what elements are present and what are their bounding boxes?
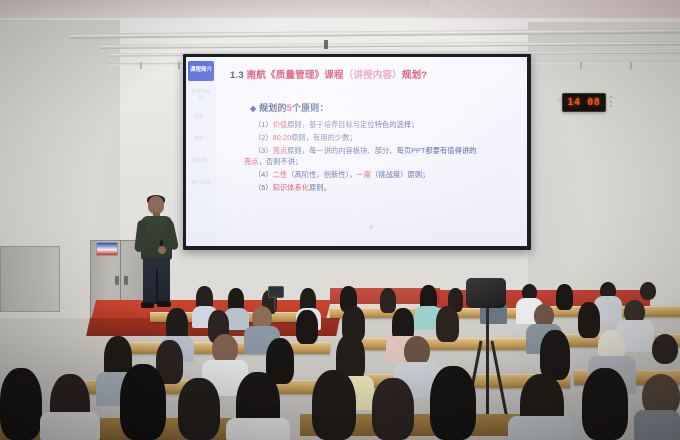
- slide-title-tail: 规划?: [402, 70, 427, 81]
- digital-wall-clock: 14 08: [562, 93, 606, 112]
- audience-person-front: [50, 374, 90, 440]
- slide-title: 1.3 南航《质量管理》课程（讲授内容）规划?: [230, 67, 427, 81]
- presenter-hand: [158, 246, 166, 254]
- slide-item-1-num: （1）: [254, 120, 273, 129]
- presenter-shoe-left: [141, 302, 154, 308]
- lecture-hall-photo: 14 08 课程简介 课程与目标 讲课一 讲课二 课程推广 课后总结 1.3 南…: [0, 0, 680, 440]
- audience-person-front: [40, 412, 100, 440]
- desk-row: [574, 370, 680, 385]
- slide-item-5: （5）知识体系化原则。: [254, 183, 331, 192]
- slide-item-1: （1）价值原则，基于培养目标与定位特色的选择；: [254, 120, 418, 129]
- audience-person: [212, 334, 238, 364]
- slide-tab-dim-2[interactable]: 讲课一: [189, 109, 213, 126]
- right-wall: [528, 22, 680, 302]
- presenter: [134, 196, 178, 314]
- slide-item-3: （3）亮点原则，每一讲的内容板块、部分、每页PPT都要有值得讲的: [254, 146, 476, 155]
- audience-person: [404, 336, 430, 366]
- slide-heading-prefix: 规划的: [259, 103, 287, 113]
- foreground-blur: [0, 330, 680, 440]
- slide-item-2-num: （2）: [254, 133, 273, 142]
- slide-item-4-highlight: 二性: [273, 170, 288, 179]
- slide-tab-dim-1[interactable]: 课程与目标: [189, 87, 213, 104]
- slide-item-2: （2）80:20原则，有用的少数；: [254, 133, 357, 142]
- slide-item-2-highlight: 80:20: [273, 133, 292, 142]
- audience-person: [266, 338, 294, 384]
- slide-tab-dim-3[interactable]: 讲课二: [189, 131, 213, 148]
- projection-screen[interactable]: 课程简介 课程与目标 讲课一 讲课二 课程推广 课后总结 1.3 南航《质量管理…: [186, 57, 527, 246]
- desk-row-front: [300, 414, 560, 436]
- clock-time-display: 14 08: [567, 97, 600, 108]
- desk-row: [130, 342, 330, 354]
- slide-item-5-num: （5）: [254, 183, 273, 192]
- audience-person: [202, 360, 248, 396]
- audience-person-front: [236, 372, 280, 440]
- slide-item-3-rest: 原则，每一讲的内容板块、部分、每页PPT都要有值得讲的: [287, 146, 476, 155]
- presenter-shoe-right: [157, 301, 171, 307]
- slide-item-3-wrap-rest: ，否则不讲；: [259, 157, 303, 166]
- audience-person-front: [582, 368, 628, 440]
- slide-title-main: 南航《质量管理》课程: [247, 70, 344, 81]
- audience-person: [616, 320, 654, 352]
- audience-person: [104, 336, 132, 382]
- slide-item-4-highlight-2: 一度: [357, 170, 372, 179]
- slide-item-5-highlight: 知识体系化: [273, 183, 309, 192]
- slide-item-3-num: （3）: [254, 146, 273, 155]
- pipe-hanger: [140, 62, 142, 69]
- slide-tab-dim-5[interactable]: 课后总结: [189, 175, 213, 192]
- cabinet-handle: [115, 276, 119, 285]
- desk-row: [340, 338, 550, 350]
- audience-person-front: [430, 366, 476, 440]
- audience-person-front: [120, 364, 166, 440]
- desk-row: [60, 380, 320, 394]
- audience-person-front: [508, 416, 574, 440]
- slide-item-2-rest: 原则，有用的少数；: [291, 133, 357, 142]
- slide-sidebar: 课程简介 课程与目标 讲课一 讲课二 课程推广 课后总结: [186, 57, 216, 246]
- audience-person: [156, 340, 183, 384]
- side-cabinet: [0, 246, 60, 312]
- stage-edge-right: [420, 290, 650, 316]
- slide-heading: ◆ 规划的5个原则：: [250, 101, 329, 114]
- slide-item-3-wrap: 亮点，否则不讲；: [244, 157, 302, 166]
- pipe-hanger: [178, 62, 180, 69]
- tripod-leg: [486, 300, 489, 430]
- audience-person: [326, 376, 374, 410]
- bullet-diamond-icon: ◆: [250, 104, 256, 113]
- audience-person: [526, 324, 562, 354]
- stage-platform-face: [86, 318, 340, 336]
- slide-item-4-rest: （高阶性、创新性），: [287, 170, 356, 179]
- pipe-clamp: [324, 40, 328, 49]
- slide-item-4-rest-2: （挑战度）原则；: [371, 170, 429, 179]
- presenter-leg-seam: [156, 270, 158, 304]
- slide-heading-suffix: 个原则：: [292, 103, 329, 113]
- audience-person-front: [520, 374, 564, 440]
- slide-tab-dim-4[interactable]: 课程推广: [189, 153, 213, 170]
- desk-row: [330, 374, 570, 388]
- audience-person-front: [0, 368, 42, 440]
- audience-person: [588, 356, 636, 394]
- slide-tab-active[interactable]: 课程简介: [188, 61, 214, 81]
- audience-person-cap: [598, 330, 625, 360]
- audience-person: [160, 336, 194, 362]
- slide-title-paren: （讲授内容）: [344, 70, 402, 81]
- audience-person-front: [226, 418, 290, 440]
- audience-person-front: [312, 370, 356, 440]
- slide-item-5-rest: 原则。: [309, 183, 331, 192]
- slide-tab-active-label: 课程简介: [190, 68, 212, 74]
- slide-page-number: -8-: [368, 225, 374, 231]
- audience-person: [652, 334, 678, 364]
- pipe-hanger: [580, 62, 582, 69]
- slide-title-number: 1.3: [230, 70, 244, 81]
- desk-row-front: [0, 418, 270, 440]
- slide-item-3-wrap-highlight: 亮点: [244, 157, 259, 166]
- slide-item-4-num: （4）: [254, 170, 273, 179]
- slide-item-1-highlight: 价值: [273, 120, 288, 129]
- audience-person-front: [642, 374, 680, 418]
- pipe-hanger: [630, 62, 632, 69]
- audience-person-front: [372, 378, 414, 440]
- audience-person: [386, 336, 420, 362]
- slide-item-4: （4）二性（高阶性、创新性），一度（挑战度）原则；: [254, 170, 429, 179]
- slide-item-1-rest: 原则，基于培养目标与定位特色的选择；: [287, 120, 418, 129]
- audience-person-front: [178, 378, 220, 440]
- desk-row: [556, 334, 680, 347]
- audience-person-front: [634, 410, 680, 440]
- wall-fixture-dots: [610, 96, 613, 107]
- audience-person: [336, 334, 365, 382]
- audience-person: [394, 362, 440, 398]
- slide-item-3-highlight: 亮点: [273, 146, 288, 155]
- audience-person: [96, 372, 140, 406]
- cabinet-handle: [124, 276, 128, 285]
- audience-person: [540, 330, 570, 380]
- wall-notice-sign: [96, 242, 118, 256]
- tripod-leg: [460, 341, 482, 440]
- slide-content: 1.3 南航《质量管理》课程（讲授内容）规划? ◆ 规划的5个原则： （1）价值…: [216, 57, 527, 246]
- tripod-leg: [490, 341, 512, 440]
